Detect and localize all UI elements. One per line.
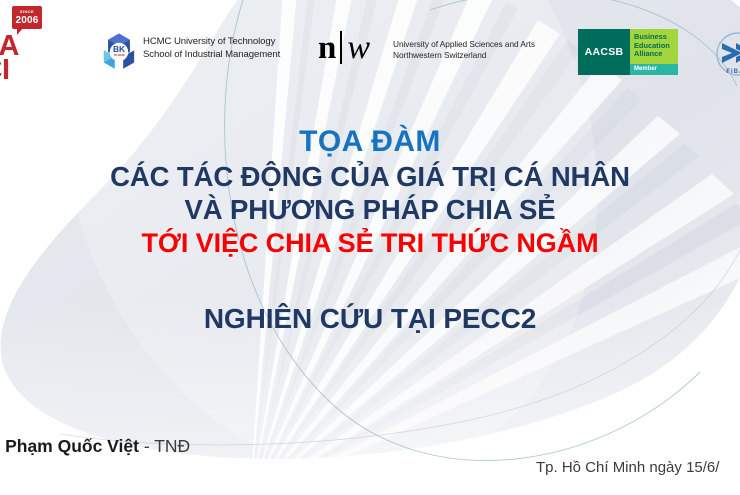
event-kind-title: TỌA ĐÀM bbox=[0, 124, 740, 160]
fhnw-line2: Northwestern Switzerland bbox=[393, 50, 535, 61]
abaci-wordmark-line2: ICI bbox=[0, 56, 10, 85]
fhnw-letter-w: w bbox=[347, 33, 370, 63]
abaci-since-label: SINCE bbox=[12, 6, 42, 15]
author-suffix: - TNĐ bbox=[139, 436, 190, 456]
aacsb-acronym: AACSB bbox=[585, 46, 624, 58]
fhnw-line1: University of Applied Sciences and Arts bbox=[393, 39, 535, 50]
fhnw-logo-mark: n w bbox=[318, 31, 370, 64]
fhnw-divider-bar bbox=[340, 31, 342, 64]
svg-text:TP.HCM: TP.HCM bbox=[114, 53, 125, 57]
partner-logo-strip: SINCE 2006 BA ICI BK TP.HCM bbox=[0, 0, 740, 95]
aacsb-alliance-box: Business Education Alliance Member bbox=[630, 29, 678, 75]
abaci-since-badge: SINCE 2006 bbox=[12, 6, 42, 29]
aacsb-acronym-box: AACSB bbox=[578, 29, 630, 75]
fhnw-logo-text: University of Applied Sciences and Arts … bbox=[393, 39, 535, 61]
title-line-2: VÀ PHƯƠNG PHÁP CHIA SẺ bbox=[0, 193, 740, 226]
fhnw-letter-n: n bbox=[318, 33, 335, 63]
abaci-logo: SINCE 2006 BA ICI bbox=[0, 4, 44, 82]
author-line: giả: Phạm Quốc Việt - TNĐ bbox=[0, 436, 190, 457]
hcmut-line1: HCMC University of Technology bbox=[143, 36, 280, 49]
hcmut-logo-mark: BK TP.HCM bbox=[98, 31, 140, 78]
aacsb-member-badge: Member bbox=[630, 64, 678, 75]
svg-text:BK: BK bbox=[113, 44, 125, 54]
place-date-line: Tp. Hồ Chí Minh ngày 15/6/ bbox=[536, 459, 719, 476]
title-subtitle: NGHIÊN CỨU TẠI PECC2 bbox=[0, 302, 740, 336]
title-line-3-accent: TỚI VIỆC CHIA SẺ TRI THỨC NGẦM bbox=[0, 226, 740, 260]
aacsb-alliance-text: Business Education Alliance bbox=[630, 29, 678, 64]
aacsb-logo: AACSB Business Education Alliance Member bbox=[578, 29, 678, 75]
hcmut-logo-text: HCMC University of Technology School of … bbox=[143, 36, 280, 61]
presentation-title-slide: SINCE 2006 BA ICI BK TP.HCM bbox=[0, 0, 740, 495]
title-block: TỌA ĐÀM CÁC TÁC ĐỘNG CỦA GIÁ TRỊ CÁ NHÂN… bbox=[0, 124, 740, 336]
author-name: Phạm Quốc Việt bbox=[5, 436, 139, 456]
abaci-year-label: 2006 bbox=[12, 15, 42, 26]
fibaa-logo: FIBAA bbox=[712, 30, 740, 82]
hcmut-line2: School of Industrial Management bbox=[143, 49, 280, 62]
svg-text:FIBAA: FIBAA bbox=[726, 69, 740, 75]
title-line-1: CÁC TÁC ĐỘNG CỦA GIÁ TRỊ CÁ NHÂN bbox=[0, 160, 740, 193]
aacsb-alliance-line3: Alliance bbox=[634, 50, 678, 59]
